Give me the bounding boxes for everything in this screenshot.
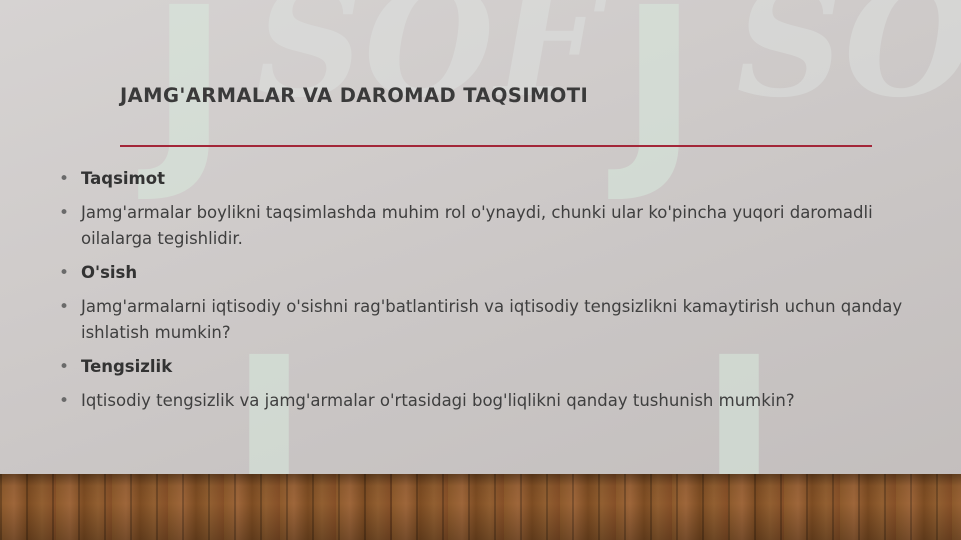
bullet-dot-icon: •	[55, 200, 81, 226]
list-item: • Taqsimot	[55, 166, 915, 192]
list-item: • O'sish	[55, 260, 915, 286]
list-item: • Jamg'armalar boylikni taqsimlashda muh…	[55, 200, 915, 252]
watermark-text: SOF	[239, 0, 616, 131]
bullet-dot-icon: •	[55, 260, 81, 286]
list-item: • Jamg'armalarni iqtisodiy o'sishni rag'…	[55, 294, 915, 346]
title-divider	[120, 145, 872, 147]
list-item-text: Tengsizlik	[81, 354, 915, 380]
watermark-text: SOF	[719, 0, 961, 131]
list-item-text: O'sish	[81, 260, 915, 286]
list-item-text: Taqsimot	[81, 166, 915, 192]
bullet-dot-icon: •	[55, 294, 81, 320]
slide-body: • Taqsimot • Jamg'armalar boylikni taqsi…	[55, 166, 915, 422]
bullet-dot-icon: •	[55, 166, 81, 192]
list-item-text: Jamg'armalar boylikni taqsimlashda muhim…	[81, 200, 915, 252]
list-item-text: Jamg'armalarni iqtisodiy o'sishni rag'ba…	[81, 294, 915, 346]
bullet-dot-icon: •	[55, 354, 81, 380]
list-item: • Tengsizlik	[55, 354, 915, 380]
presentation-slide: J J J J SOF SOF JAMG'ARMALAR VA DAROMAD …	[0, 0, 961, 540]
list-item-text: Iqtisodiy tengsizlik va jamg'armalar o'r…	[81, 388, 915, 414]
floor-decoration	[0, 474, 961, 540]
slide-title: JAMG'ARMALAR VA DAROMAD TAQSIMOTI	[120, 84, 880, 107]
list-item: • Iqtisodiy tengsizlik va jamg'armalar o…	[55, 388, 915, 414]
bullet-dot-icon: •	[55, 388, 81, 414]
